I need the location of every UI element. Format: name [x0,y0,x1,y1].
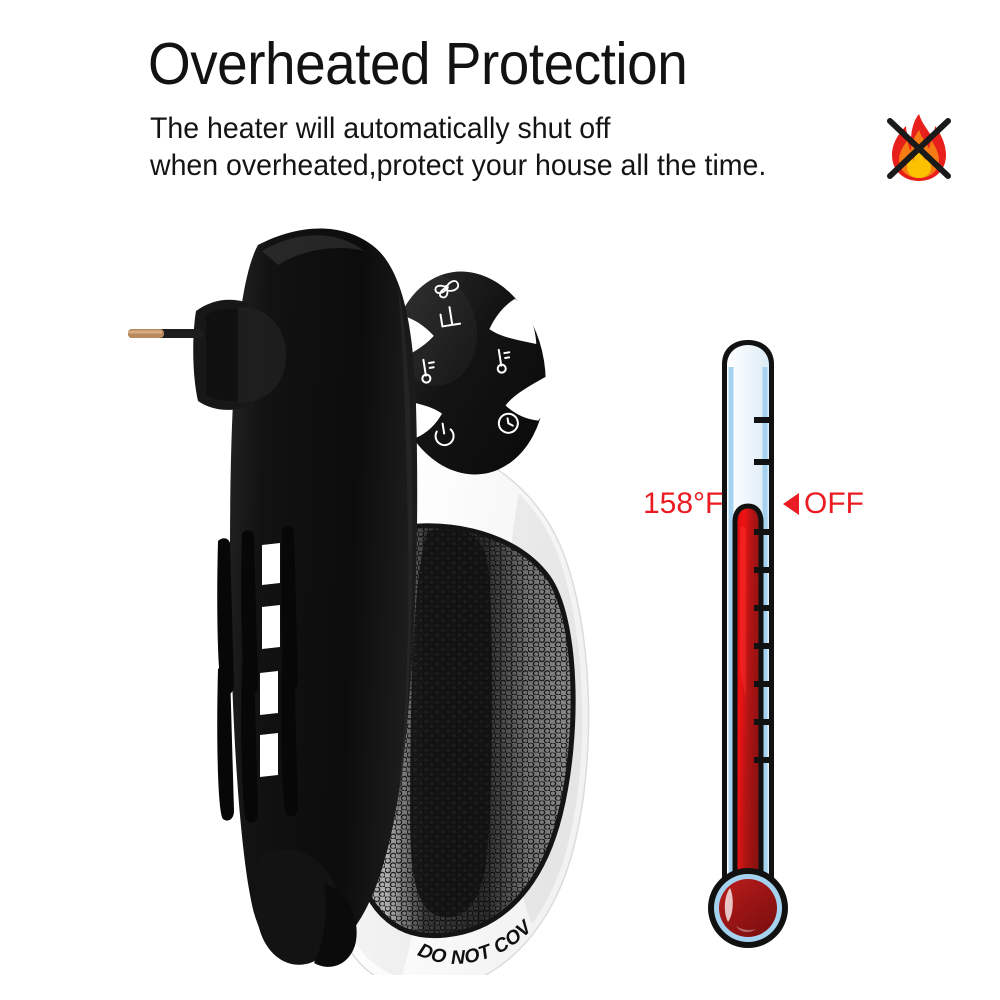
subtitle-line-2: when overheated,protect your house all t… [150,147,766,184]
plug-prong [128,329,204,338]
thermometer-bulb [708,868,788,948]
page-subtitle: The heater will automatically shut off w… [150,110,766,184]
thermometer-mercury [735,506,761,900]
page-title: Overheated Protection [148,32,687,96]
product-image-heater: DO NOT COVER [110,215,630,975]
no-fire-icon [876,108,962,188]
temperature-reading: 158°F [643,487,723,521]
infographic-canvas: Overheated Protection The heater will au… [0,0,1000,1000]
left-arrow-icon [783,493,799,515]
cutoff-marker: OFF [783,487,864,521]
thermometer-graphic [630,340,970,960]
cutoff-label: OFF [804,487,864,521]
subtitle-line-1: The heater will automatically shut off [150,110,766,147]
